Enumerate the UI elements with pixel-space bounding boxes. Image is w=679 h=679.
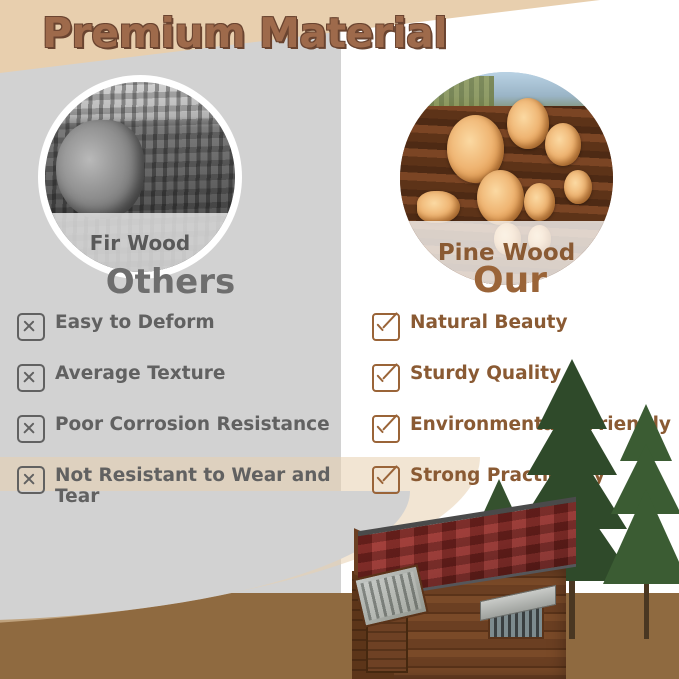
pine-log-end [477,170,524,225]
infographic-canvas: Premium Material Fir Wood Pine [0,0,679,679]
check-mark-checkbox-icon [372,415,400,443]
list-item: Easy to Deform [17,312,341,341]
list-item: Natural Beauty [372,312,672,341]
fir-wood-circle: Fir Wood [45,82,235,272]
list-item-label: Easy to Deform [55,312,215,333]
list-item-label: Natural Beauty [410,312,568,333]
x-mark-checkbox-icon [17,415,45,443]
pine-wood-circle: Pine Wood [400,72,613,285]
wooden-dog-house [352,504,582,679]
pine-log-end [545,123,581,166]
others-heading: Others [0,262,341,302]
list-item: Not Resistant to Wear and Tear [17,465,341,508]
list-item-label: Poor Corrosion Resistance [55,414,330,435]
list-item-label: Not Resistant to Wear and Tear [55,465,341,508]
pine-log-end [417,191,460,223]
x-mark-checkbox-icon [17,466,45,494]
x-mark-checkbox-icon [17,313,45,341]
list-item: Average Texture [17,363,341,392]
fir-wood-label: Fir Wood [90,231,191,255]
x-mark-checkbox-icon [17,364,45,392]
list-item-label: Average Texture [55,363,225,384]
pine-log-end [507,98,550,149]
our-heading: Our [341,260,679,301]
page-title: Premium Material [42,9,447,57]
others-feature-list: Easy to Deform Average Texture Poor Corr… [17,312,341,530]
check-mark-checkbox-icon [372,364,400,392]
list-item: Poor Corrosion Resistance [17,414,341,443]
check-mark-checkbox-icon [372,313,400,341]
check-mark-checkbox-icon [372,466,400,494]
pine-log-end [564,170,592,204]
fir-large-log [56,120,143,219]
